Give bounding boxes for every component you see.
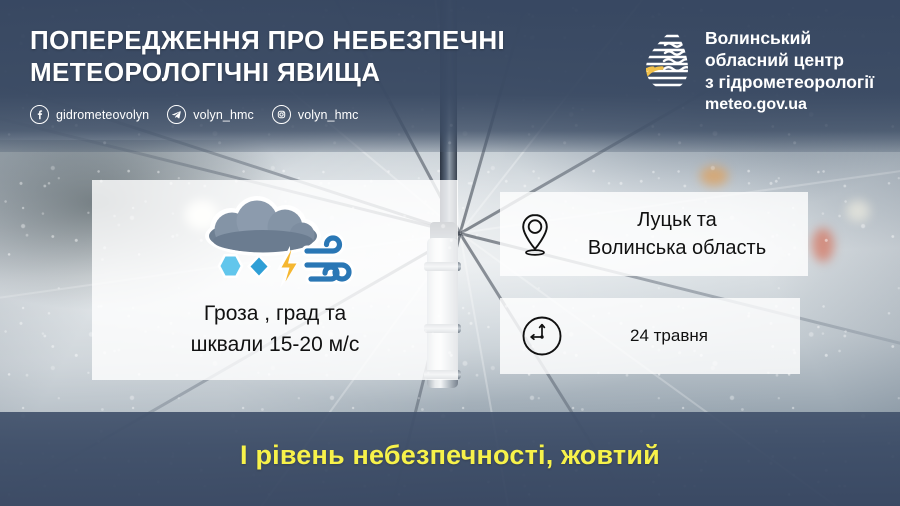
logo-text-block: Волинський обласний центр з гідрометеоро… [705, 26, 874, 115]
page-title-line-2: МЕТЕОРОЛОГІЧНІ ЯВИЩА [30, 56, 505, 88]
map-pin-icon [518, 211, 552, 257]
social-link-telegram[interactable]: volyn_hmc [167, 105, 254, 124]
header-banner: ПОПЕРЕДЖЕННЯ ПРО НЕБЕЗПЕЧНІ МЕТЕОРОЛОГІЧ… [0, 0, 900, 152]
weather-phenomenon-card: Гроза , град та шквали 15-20 м/с [92, 180, 458, 380]
telegram-icon [167, 105, 186, 124]
instagram-icon [272, 105, 291, 124]
facebook-icon [30, 105, 49, 124]
danger-level-text: І рівень небезпечності, жовтий [240, 440, 660, 471]
thunderstorm-hail-wind-icon [187, 196, 363, 292]
logo-line-3: з гідрометеорології [705, 71, 874, 93]
infographic-canvas: ПОПЕРЕДЖЕННЯ ПРО НЕБЕЗПЕЧНІ МЕТЕОРОЛОГІЧ… [0, 0, 900, 506]
danger-level-banner: І рівень небезпечності, жовтий [0, 412, 900, 506]
logo-line-2: обласний центр [705, 49, 874, 71]
logo-line-1: Волинський [705, 27, 874, 49]
social-handle-instagram: volyn_hmc [298, 108, 359, 122]
logo-website-url[interactable]: meteo.gov.ua [705, 94, 874, 115]
social-handle-telegram: volyn_hmc [193, 108, 254, 122]
date-card: 24 травня [500, 298, 800, 374]
location-line-1: Луцьк та [552, 206, 802, 234]
weather-description-line-1: Гроза , град та [191, 298, 360, 329]
hydrometeorology-droplet-logo-icon [640, 26, 692, 94]
clock-icon [520, 314, 564, 358]
social-link-facebook[interactable]: gidrometeovolyn [30, 105, 149, 124]
social-links: gidrometeovolyn volyn_hmc [30, 105, 505, 124]
social-handle-facebook: gidrometeovolyn [56, 108, 149, 122]
location-card: Луцьк та Волинська область [500, 192, 808, 276]
page-title-line-1: ПОПЕРЕДЖЕННЯ ПРО НЕБЕЗПЕЧНІ [30, 24, 505, 56]
organization-logo[interactable]: Волинський обласний центр з гідрометеоро… [640, 22, 874, 115]
weather-description-line-2: шквали 15-20 м/с [191, 329, 360, 360]
date-value: 24 травня [564, 326, 800, 346]
weather-description: Гроза , град та шквали 15-20 м/с [191, 298, 360, 360]
social-link-instagram[interactable]: volyn_hmc [272, 105, 359, 124]
location-line-2: Волинська область [552, 234, 802, 262]
header-title-block: ПОПЕРЕДЖЕННЯ ПРО НЕБЕЗПЕЧНІ МЕТЕОРОЛОГІЧ… [30, 22, 505, 124]
location-description: Луцьк та Волинська область [552, 206, 808, 262]
